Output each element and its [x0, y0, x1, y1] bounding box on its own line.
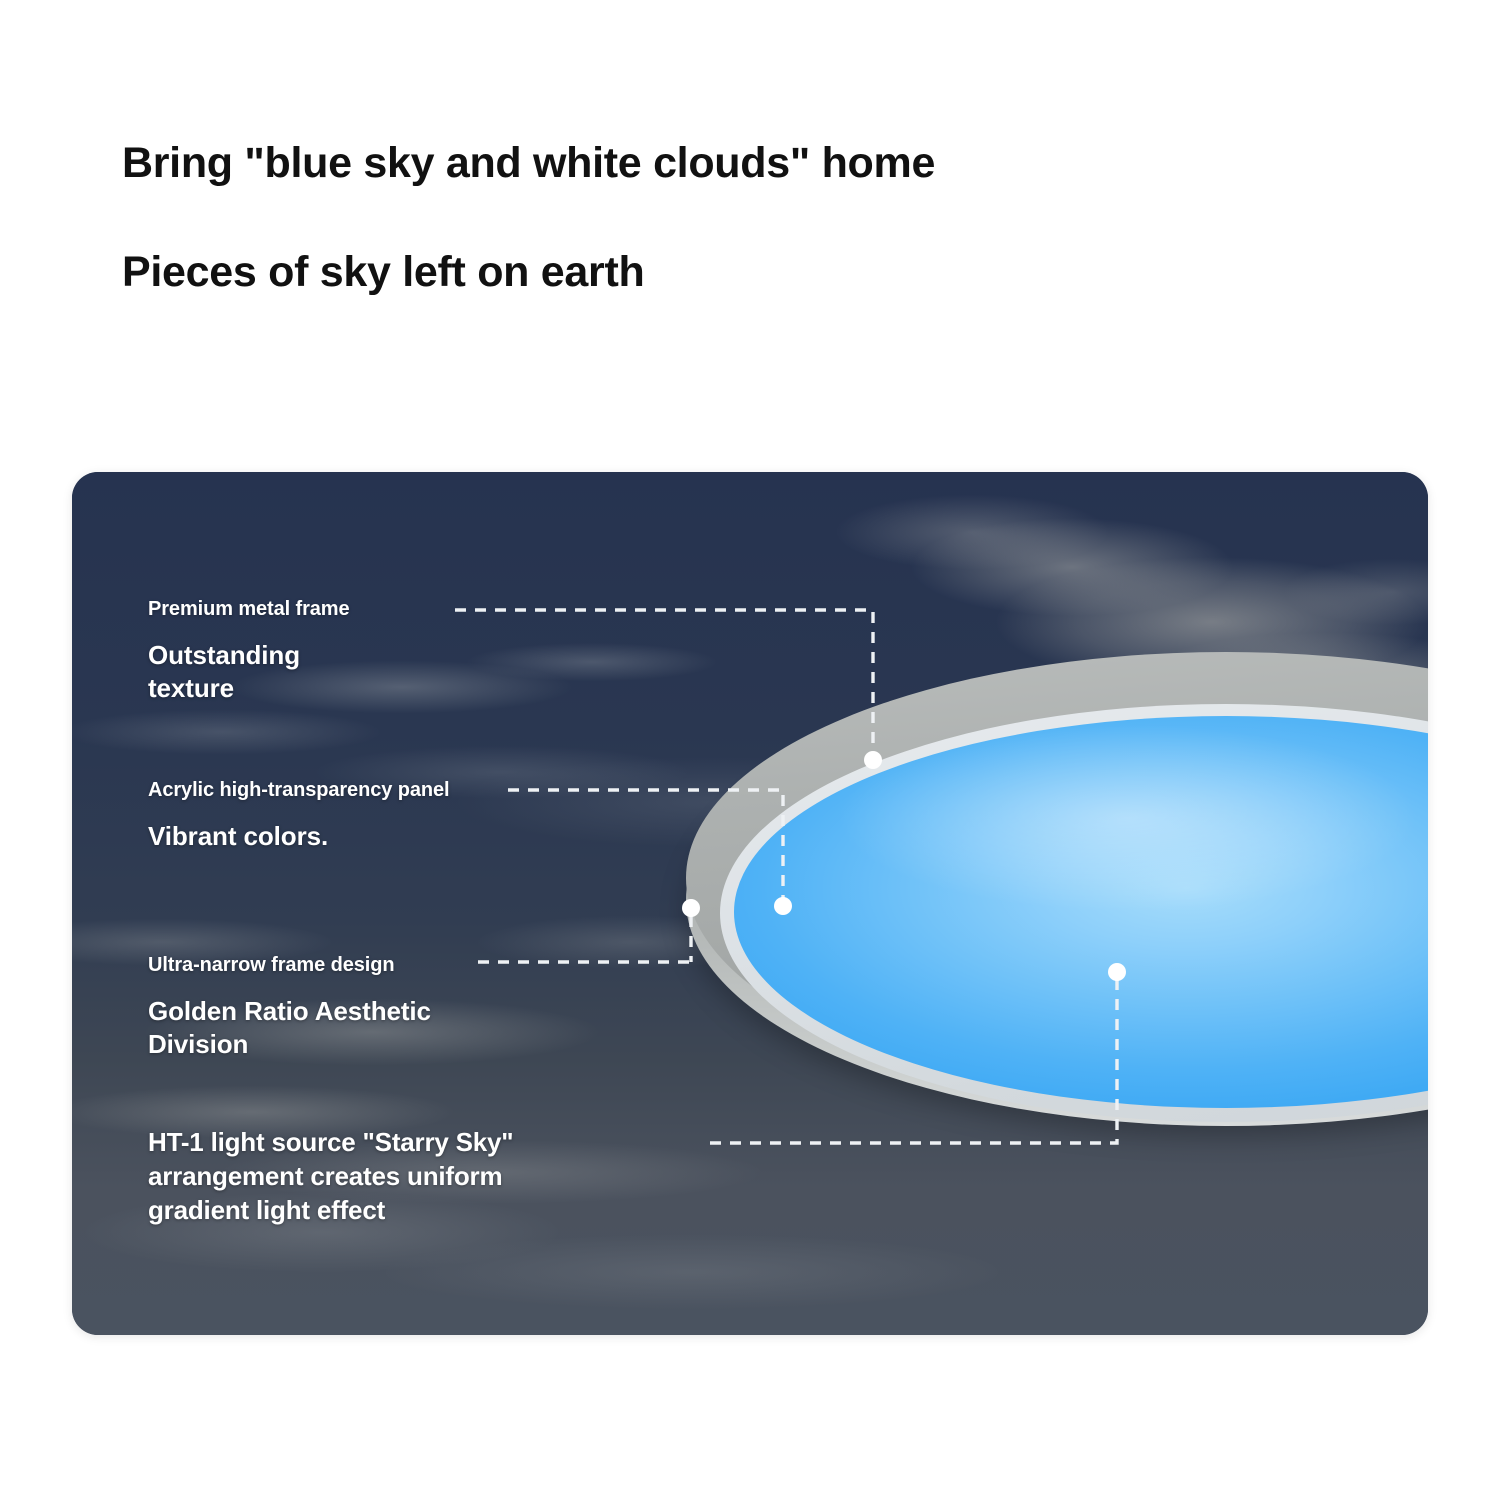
product-image-ceiling-lamp: [686, 652, 1428, 1152]
callout-ultra-narrow-frame: Ultra-narrow frame design Golden Ratio A…: [148, 954, 431, 1062]
callout-1-title: Premium metal frame: [148, 598, 350, 621]
callout-3-subtitle: Golden Ratio Aesthetic Division: [148, 995, 431, 1062]
page-title-secondary: Pieces of sky left on earth: [122, 249, 1322, 296]
callout-3-title: Ultra-narrow frame design: [148, 954, 431, 977]
headings-block: Bring "blue sky and white clouds" home P…: [122, 140, 1322, 297]
callout-2-subtitle: Vibrant colors.: [148, 820, 449, 853]
callout-premium-metal-frame: Premium metal frame Outstanding texture: [148, 598, 350, 706]
callout-2-title: Acrylic high-transparency panel: [148, 779, 449, 802]
callout-1-subtitle: Outstanding texture: [148, 639, 350, 706]
callout-acrylic-panel: Acrylic high-transparency panel Vibrant …: [148, 779, 449, 853]
page-title-primary: Bring "blue sky and white clouds" home: [122, 140, 1322, 187]
callout-ht1-light-source: HT-1 light source "Starry Sky" arrangeme…: [148, 1126, 513, 1227]
callout-4-title: HT-1 light source "Starry Sky" arrangeme…: [148, 1126, 513, 1227]
